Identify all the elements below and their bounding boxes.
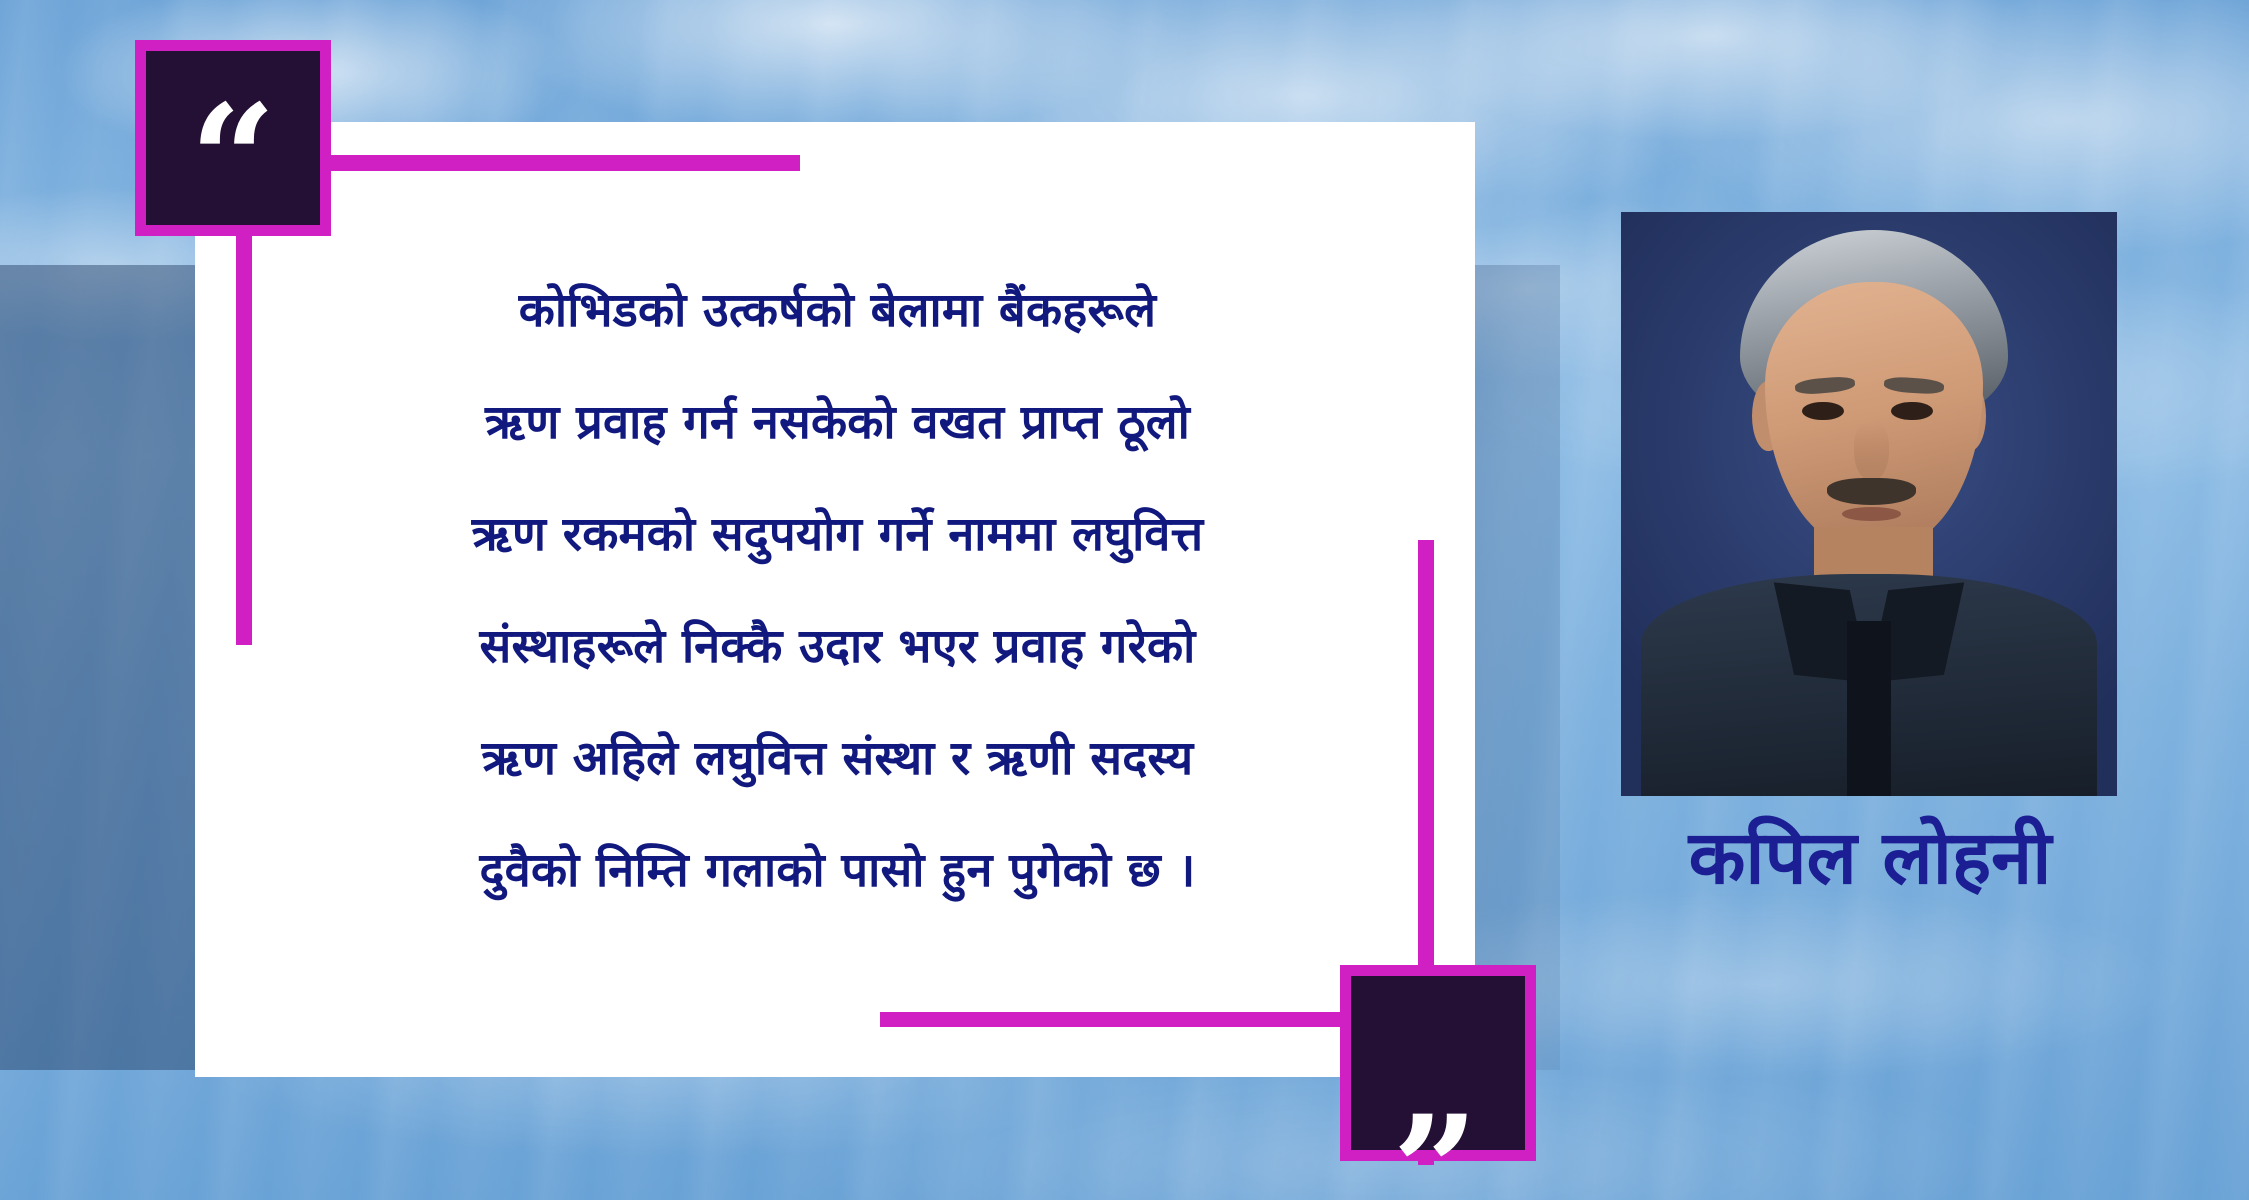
quote-line-2: ऋण प्रवाह गर्न नसकेको वखत प्राप्त ठूलो <box>215 367 1460 479</box>
close-quote-box: „ <box>1340 965 1536 1161</box>
quote-graphic-stage: कोभिडको उत्कर्षको बेलामा बैंकहरूले ऋण प्… <box>0 0 2249 1200</box>
quote-line-3: ऋण रकमको सदुपयोग गर्ने नाममा लघुवित्त <box>215 479 1460 591</box>
quote-line-5: ऋण अहिले लघुवित्त संस्था र ऋणी सदस्य <box>215 703 1460 815</box>
portrait-moustache <box>1827 478 1916 505</box>
speaker-portrait-frame <box>1621 212 2117 796</box>
portrait-shirt-placket <box>1847 621 1892 796</box>
quote-text-block: कोभिडको उत्कर्षको बेलामा बैंकहरूले ऋण प्… <box>215 255 1460 927</box>
portrait-mouth <box>1842 507 1902 521</box>
quote-line-6: दुवैको निम्ति गलाको पासो हुन पुगेको छ । <box>215 815 1460 927</box>
quote-line-1: कोभिडको उत्कर्षको बेलामा बैंकहरूले <box>215 255 1460 367</box>
close-quote-icon: „ <box>1395 1040 1481 1130</box>
open-quote-box: “ <box>135 40 331 236</box>
portrait-nose <box>1854 422 1889 480</box>
open-quote-icon: “ <box>190 115 276 205</box>
speaker-name: कपिल लोहनी <box>1560 818 2180 899</box>
speaker-portrait-image <box>1621 212 2117 796</box>
magenta-rule-top <box>330 155 800 171</box>
quote-line-4: संस्थाहरूले निक्कै उदार भएर प्रवाह गरेको <box>215 591 1460 703</box>
